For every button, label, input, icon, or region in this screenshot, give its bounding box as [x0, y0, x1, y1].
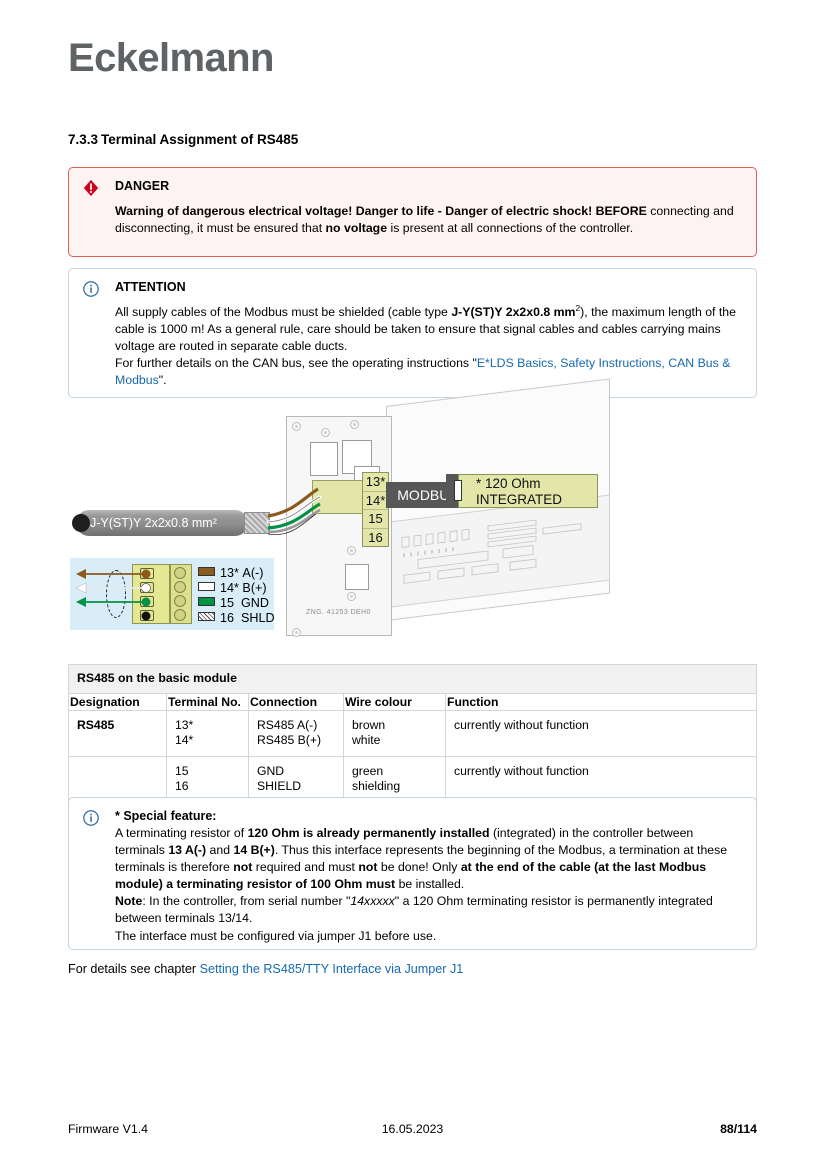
cell-function: currently without function: [446, 710, 757, 756]
sf-text-3: and: [206, 843, 233, 857]
cable-end-cap: [72, 514, 90, 532]
screw-icon: [347, 592, 356, 601]
col-designation: Designation: [69, 693, 167, 710]
attention-title: ATTENTION: [115, 279, 744, 295]
col-function: Function: [446, 693, 757, 710]
legend-swatch-brown: [198, 567, 215, 576]
attention-text-a: All supply cables of the Modbus must be …: [115, 305, 451, 319]
details-line: For details see chapter Setting the RS48…: [68, 962, 463, 976]
details-prefix: For details see chapter: [68, 962, 200, 976]
terminal-tag-16: 16: [363, 528, 388, 547]
table-caption-row: RS485 on the basic module: [69, 665, 757, 694]
terminating-resistor-label: * 120 Ohm INTEGRATED: [458, 474, 598, 508]
cable-label: J-Y(ST)Y 2x2x0.8 mm²: [90, 514, 240, 532]
cell-colour: brown white: [344, 710, 446, 756]
jumper-icon: [454, 480, 462, 501]
danger-text-2: is present at all connections of the con…: [387, 221, 633, 235]
legend-swatch-green: [198, 597, 215, 606]
page-title: 7.3.3Terminal Assignment of RS485: [68, 132, 298, 147]
company-logo: Eckelmann: [68, 36, 274, 81]
drawing-number: ZNG. 41253 DEH0: [306, 609, 371, 616]
sf-text-7: be installed.: [395, 877, 464, 891]
legend-swatch-white: [198, 582, 215, 591]
cell-function: currently without function: [446, 756, 757, 802]
sf-text-1: A terminating resistor of: [115, 826, 248, 840]
legend-name-2: GND: [241, 596, 269, 610]
screw-icon: [292, 628, 301, 637]
cell-terminal: 13* 14*: [167, 710, 249, 756]
attention-text-d: ".: [159, 373, 167, 387]
section-number: 7.3.3: [68, 132, 101, 147]
terminal-number-tags: 13* 14* 15 16: [362, 472, 389, 547]
screw-icon: [321, 428, 330, 437]
sf-bold-120ohm: 120 Ohm is already permanently installed: [248, 826, 490, 840]
danger-bold-novoltage: no voltage: [326, 221, 388, 235]
document-page: Eckelmann 7.3.3Terminal Assignment of RS…: [0, 0, 827, 1169]
danger-bold-line: Warning of dangerous electrical voltage!…: [115, 204, 647, 218]
screw-icon: [292, 422, 301, 431]
legend-item: 16 SHLD: [198, 611, 275, 626]
terminal-tag-14: 14*: [363, 491, 388, 510]
col-connection: Connection: [249, 693, 344, 710]
legend-name-3: SHLD: [241, 611, 275, 625]
section-title: Terminal Assignment of RS485: [101, 132, 298, 147]
attention-text-c: For further details on the CAN bus, see …: [115, 356, 477, 370]
attention-body: All supply cables of the Modbus must be …: [115, 304, 744, 389]
cell-colour: green shielding: [344, 756, 446, 802]
connector-block-a: [310, 442, 338, 476]
cell-designation: [69, 756, 167, 802]
danger-body: Warning of dangerous electrical voltage!…: [115, 203, 744, 237]
sf-bold-14b: 14 B(+): [233, 843, 274, 857]
cell-designation: RS485: [69, 710, 167, 756]
sf-jumper-line: The interface must be configured via jum…: [115, 929, 436, 943]
attention-callout: ATTENTION All supply cables of the Modbu…: [68, 268, 757, 398]
info-circle-icon: [82, 809, 100, 827]
cable-shield-braid: [244, 512, 270, 534]
cell-connection: RS485 A(-) RS485 B(+): [249, 710, 344, 756]
screw-icon: [347, 546, 356, 555]
cell-connection: GND SHIELD: [249, 756, 344, 802]
wiring-diagram: ZNG. 41253 DEH0 J-Y(ST)Y 2x2x0.8 mm²: [68, 404, 757, 652]
terminal-legend: 13* A(-) 14* B(+) 15 GND 16 SHLD: [70, 558, 274, 630]
sf-note-label: Note: [115, 894, 142, 908]
ohm-line-1: * 120 Ohm: [476, 476, 597, 492]
sf-text-5: required and must: [252, 860, 358, 874]
col-terminal-no: Terminal No.: [167, 693, 249, 710]
legend-terminal-2: 15: [220, 596, 234, 610]
legend-item: 15 GND: [198, 596, 269, 611]
legend-terminal-1: 14*: [220, 581, 239, 595]
details-link[interactable]: Setting the RS485/TTY Interface via Jump…: [200, 962, 464, 976]
terminal-tag-13: 13*: [363, 473, 388, 491]
terminal-tag-15: 15: [363, 509, 388, 528]
danger-title: DANGER: [115, 178, 744, 194]
rs485-table: RS485 on the basic module Designation Te…: [68, 664, 757, 803]
table-row: RS485 13* 14* RS485 A(-) RS485 B(+) brow…: [69, 710, 757, 756]
legend-item: 14* B(+): [198, 581, 267, 596]
sf-bold-13a: 13 A(-): [168, 843, 206, 857]
sf-text-6: be done! Only: [377, 860, 460, 874]
legend-name-1: B(+): [242, 581, 266, 595]
sf-note-a: : In the controller, from serial number …: [142, 894, 350, 908]
footer-date: 16.05.2023: [68, 1122, 757, 1136]
special-feature-body: * Special feature: A terminating resisto…: [115, 808, 744, 945]
danger-diamond-icon: [82, 179, 100, 197]
screw-icon: [350, 420, 359, 429]
rj-socket: [345, 564, 369, 590]
table-header-row: Designation Terminal No. Connection Wire…: [69, 693, 757, 710]
footer-page-number: 88/114: [720, 1122, 757, 1136]
legend-item: 13* A(-): [198, 566, 263, 581]
sf-bold-not-1: not: [233, 860, 252, 874]
special-feature-heading: * Special feature:: [115, 808, 744, 825]
special-feature-callout: * Special feature: A terminating resisto…: [68, 797, 757, 950]
attention-cable-type: J-Y(ST)Y 2x2x0.8 mm: [451, 305, 575, 319]
info-circle-icon: [82, 280, 100, 298]
sf-note-serial: 14xxxxx: [350, 894, 394, 908]
ohm-line-2: INTEGRATED: [476, 492, 597, 508]
legend-terminal-3: 16: [220, 611, 234, 625]
legend-terminal-0: 13*: [220, 566, 239, 580]
legend-name-0: A(-): [242, 566, 263, 580]
table-row: 15 16 GND SHIELD green shielding current…: [69, 756, 757, 802]
legend-swatch-shield: [198, 612, 215, 621]
col-wire-colour: Wire colour: [344, 693, 446, 710]
table-caption: RS485 on the basic module: [69, 665, 757, 694]
sf-bold-not-2: not: [358, 860, 377, 874]
danger-callout: DANGER Warning of dangerous electrical v…: [68, 167, 757, 257]
cell-terminal: 15 16: [167, 756, 249, 802]
